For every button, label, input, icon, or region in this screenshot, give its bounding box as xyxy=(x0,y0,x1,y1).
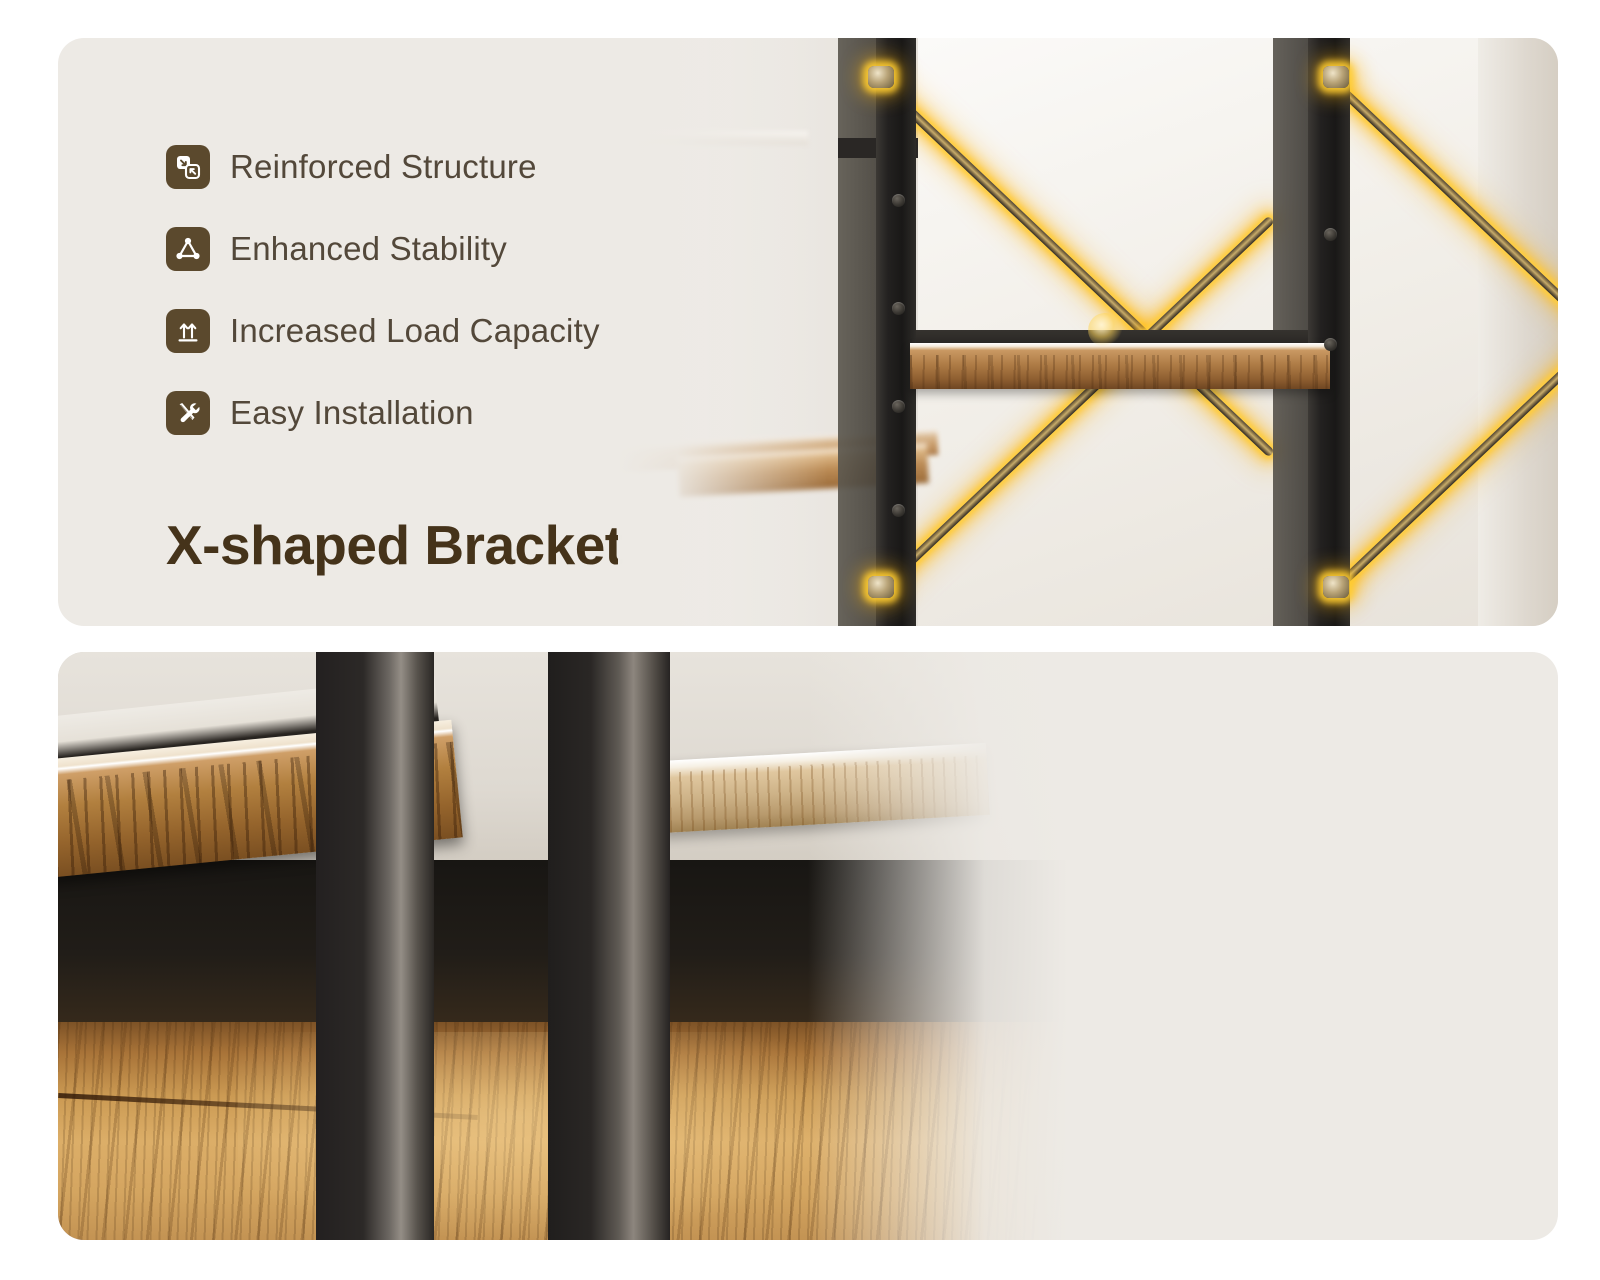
x-shaped-bracket-panel: Reinforced Structure Enhanced Stability xyxy=(58,38,1558,626)
rod-end-fitting xyxy=(868,66,894,88)
left-post-front xyxy=(876,38,916,626)
feature-label: Enhanced Stability xyxy=(230,230,507,268)
wall-corner xyxy=(1478,38,1558,626)
bolt xyxy=(892,400,905,413)
bracket-feature-list: Reinforced Structure Enhanced Stability xyxy=(166,126,600,454)
bolt xyxy=(892,504,905,517)
bolt xyxy=(1324,338,1337,351)
wood-shelf-center xyxy=(910,343,1330,389)
reinforced-structure-icon xyxy=(166,145,210,189)
easy-installation-icon xyxy=(166,391,210,435)
x-bracket-intersection xyxy=(1088,313,1122,347)
table-leg-right xyxy=(548,652,670,1240)
table-leg-left xyxy=(316,652,434,1240)
background-post xyxy=(638,38,653,626)
left-post-back xyxy=(838,38,878,626)
x-bracket-photo xyxy=(618,38,1558,626)
rod-end-fitting xyxy=(1323,66,1349,88)
adjustable-feet-photo xyxy=(58,652,1068,1240)
feature-row-load-capacity: Increased Load Capacity xyxy=(166,290,600,372)
enhanced-stability-icon xyxy=(166,227,210,271)
adjustable-feet-panel: Leveling Adjustment Load Balancing xyxy=(58,652,1558,1240)
rod-end-fitting xyxy=(868,576,894,598)
background-shelf-upper xyxy=(618,131,808,145)
right-post-front xyxy=(1308,38,1350,626)
feature-label: Reinforced Structure xyxy=(230,148,537,186)
feature-row-reinforced-structure: Reinforced Structure xyxy=(166,126,600,208)
bolt xyxy=(892,302,905,315)
product-feature-page: Reinforced Structure Enhanced Stability xyxy=(0,0,1600,1280)
bolt xyxy=(1324,228,1337,241)
bolt xyxy=(892,194,905,207)
rod-end-fitting xyxy=(1323,576,1349,598)
feature-label: Increased Load Capacity xyxy=(230,312,600,350)
bracket-section-title: X-shaped Bracket xyxy=(166,513,623,577)
feature-row-enhanced-stability: Enhanced Stability xyxy=(166,208,600,290)
feature-row-easy-installation: Easy Installation xyxy=(166,372,600,454)
feature-label: Easy Installation xyxy=(230,394,474,432)
load-capacity-icon xyxy=(166,309,210,353)
